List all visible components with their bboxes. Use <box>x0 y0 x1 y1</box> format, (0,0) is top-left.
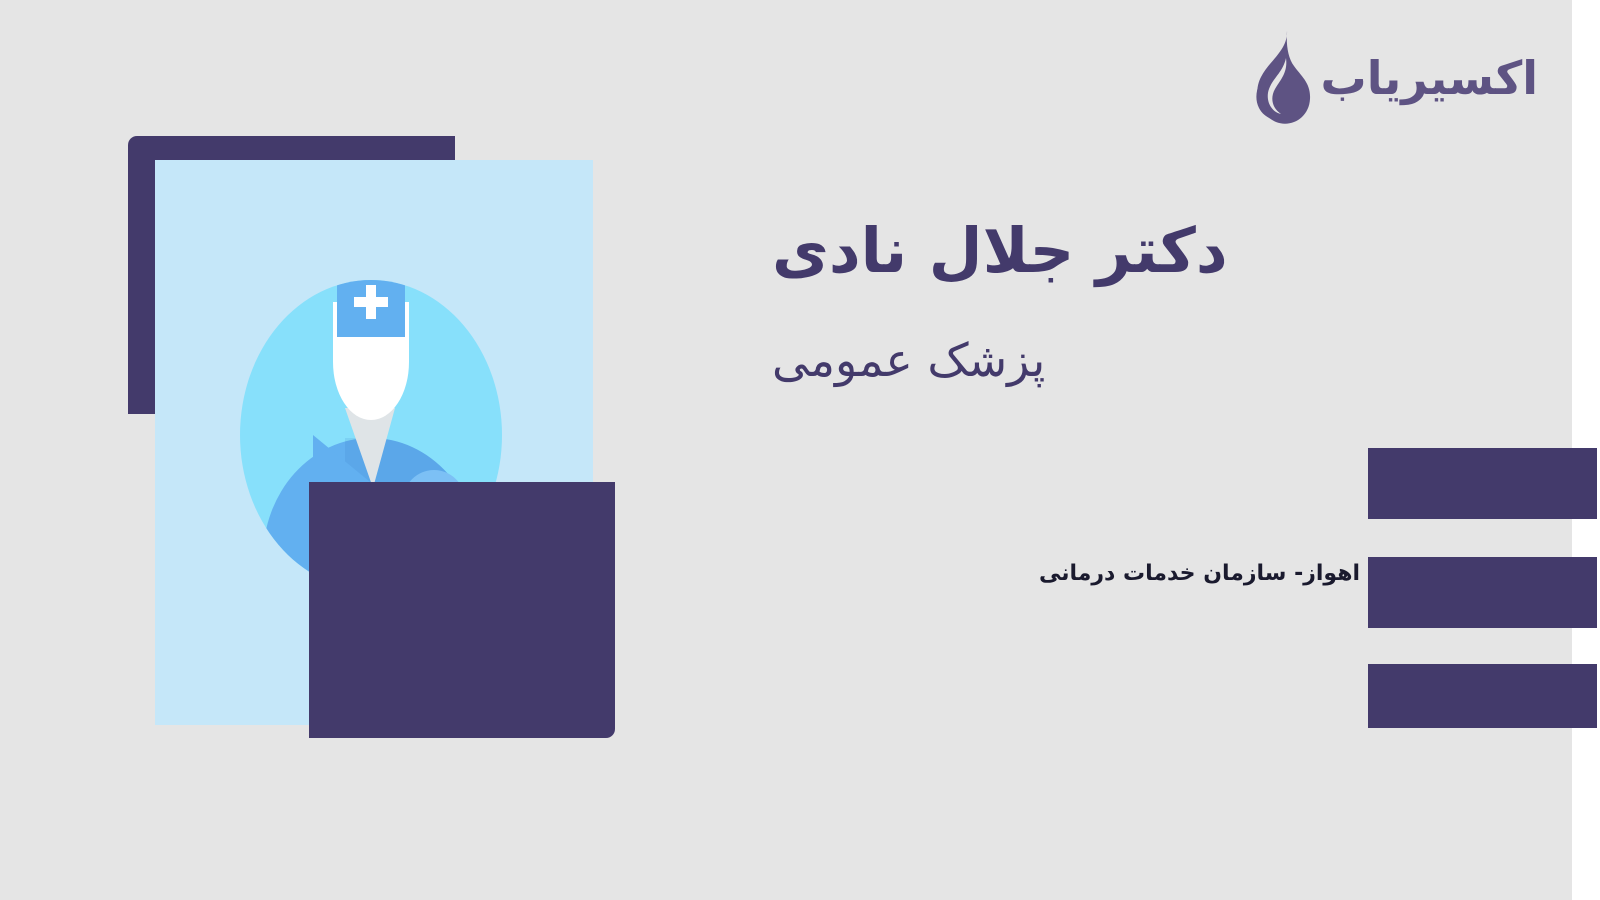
doctor-location: اهواز- سازمان خدمات درمانی <box>1039 561 1360 587</box>
decorative-bar-3 <box>1368 664 1597 728</box>
medical-cross-icon-bar <box>354 297 388 307</box>
brand-wordmark: اکسیریاب <box>1321 55 1539 101</box>
doctor-specialty: پزشک عمومی <box>772 335 1532 386</box>
decorative-bar-2 <box>1368 557 1597 628</box>
doctor-illustration <box>120 125 630 750</box>
page-title: دکتر جلال نادی <box>772 218 1532 285</box>
decorative-bar-1 <box>1368 448 1597 519</box>
slide-canvas: اکسیریاب دکتر جلال نادی پزشک عمومی اهواز… <box>0 0 1600 900</box>
decorative-frame-front <box>309 482 615 738</box>
brand-logo[interactable]: اکسیریاب <box>1247 28 1539 128</box>
flame-droplet-icon <box>1247 28 1313 128</box>
